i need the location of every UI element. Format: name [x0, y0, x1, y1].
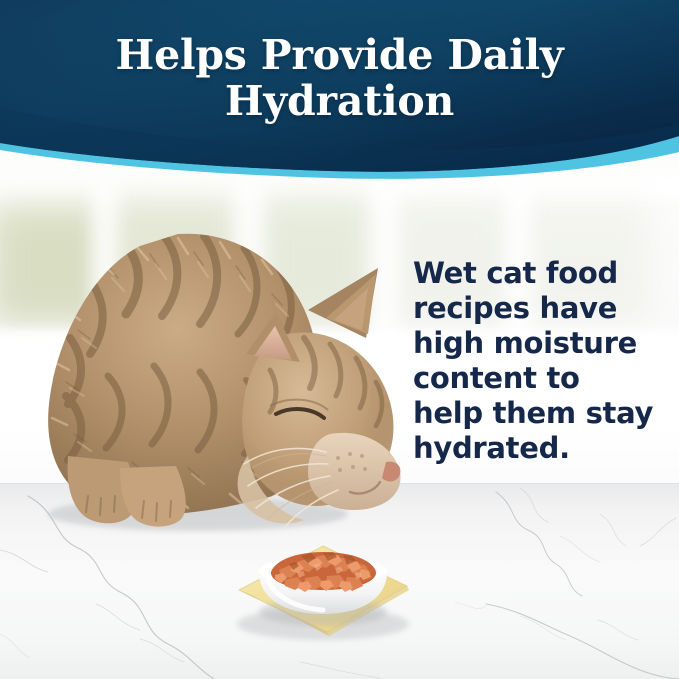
cat-illustration: [8, 206, 428, 546]
callout-body-text: Wet cat food recipes have high moisture …: [413, 256, 658, 466]
bowl-and-napkin: [205, 520, 445, 645]
promo-image: Helps Provide Daily Hydration Wet cat fo…: [0, 0, 679, 679]
page-title: Helps Provide Daily Hydration: [0, 32, 679, 124]
